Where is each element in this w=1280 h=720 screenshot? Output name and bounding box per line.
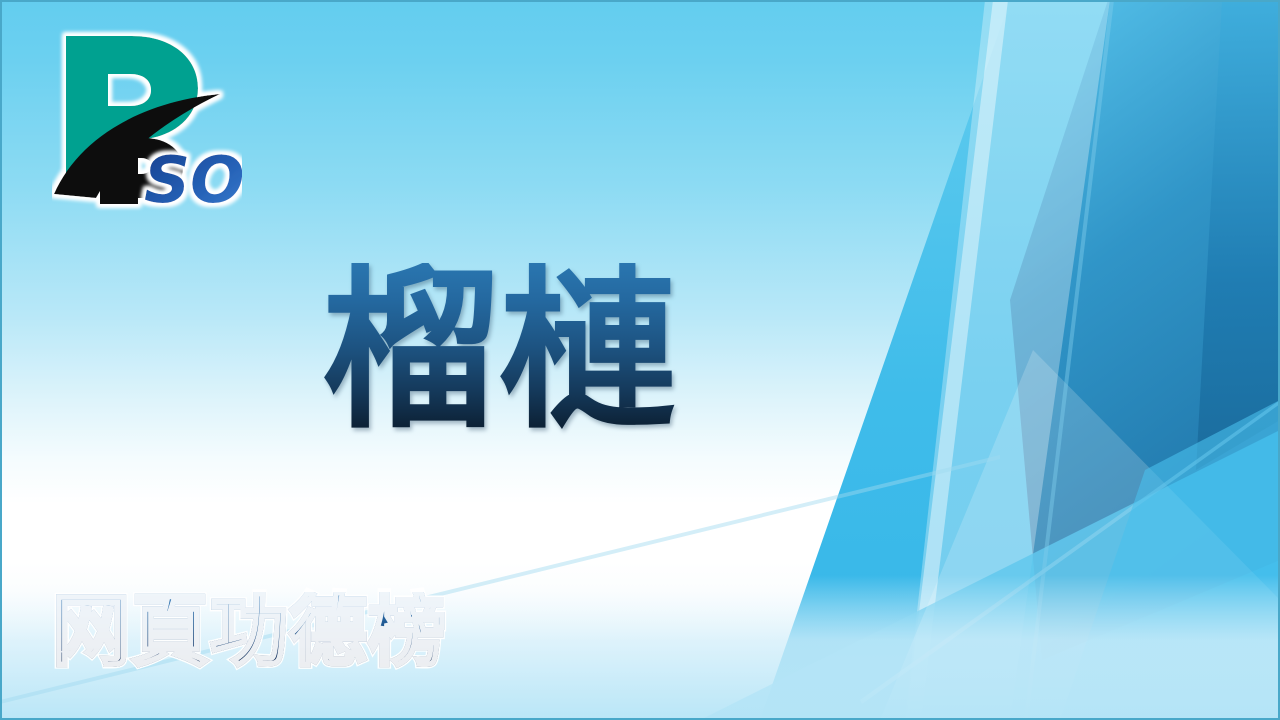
presentation-slide: SO 榴槤 网頁功德榜 网頁功德榜 <box>0 0 1280 720</box>
slide-subtitle-container: 网頁功德榜 网頁功德榜 <box>52 592 447 674</box>
pso-wordmark-text: SO <box>144 144 242 212</box>
slide-subtitle: 网頁功德榜 <box>52 592 447 674</box>
slide-title: 榴槤 <box>322 263 678 439</box>
pso-wordmark: SO <box>144 144 242 212</box>
pso-logo: SO <box>52 22 242 212</box>
slide-title-container: 榴槤 <box>0 236 1000 466</box>
